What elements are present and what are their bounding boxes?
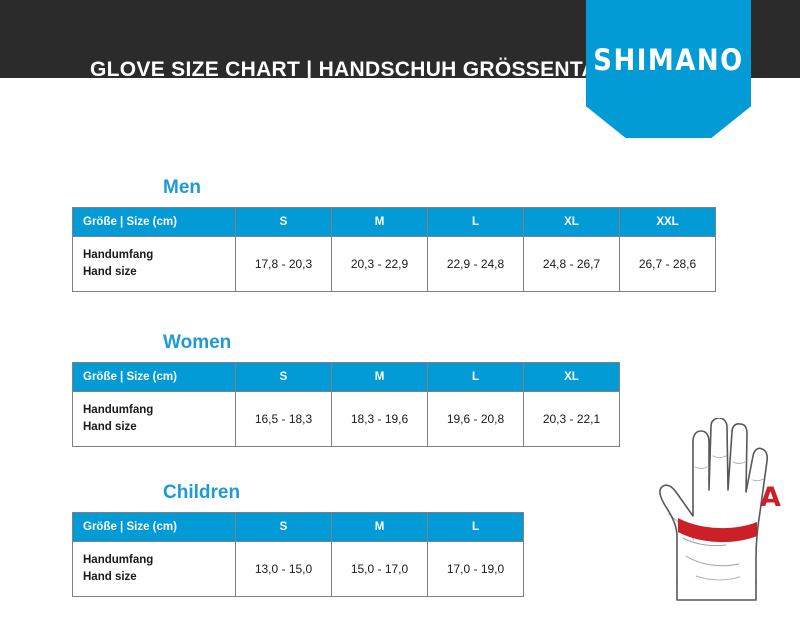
- measurement-letter-label: A: [760, 482, 781, 513]
- column-header-s: S: [236, 512, 332, 541]
- section-title-women: Women: [163, 333, 620, 353]
- cell-value-s: 17,8 - 20,3: [236, 236, 332, 291]
- row-label-hand-size: Handumfang Hand size: [73, 391, 236, 446]
- row-label-en: Hand size: [83, 419, 235, 436]
- column-header-size-label: Größe | Size (cm): [73, 362, 236, 391]
- row-label-de: Handumfang: [83, 402, 235, 419]
- section-title-children: Children: [163, 483, 524, 503]
- size-table-children: Größe | Size (cm) S M L Handumfang Hand …: [72, 512, 524, 597]
- size-section-women: Women Größe | Size (cm) S M L XL Handumf…: [72, 333, 620, 447]
- table-row: Handumfang Hand size 17,8 - 20,3 20,3 - …: [73, 236, 716, 291]
- column-header-xl: XL: [524, 362, 620, 391]
- size-table-men: Größe | Size (cm) S M L XL XXL Handumfan…: [72, 207, 716, 292]
- row-label-en: Hand size: [83, 569, 235, 586]
- table-header-row: Größe | Size (cm) S M L XL: [73, 362, 620, 391]
- column-header-m: M: [332, 512, 428, 541]
- cell-value-s: 16,5 - 18,3: [236, 391, 332, 446]
- row-label-hand-size: Handumfang Hand size: [73, 236, 236, 291]
- size-table-women: Größe | Size (cm) S M L XL Handumfang Ha…: [72, 362, 620, 447]
- page-title: GLOVE SIZE CHART | HANDSCHUH GRÖSSENTABE…: [90, 58, 667, 78]
- cell-value-xl: 20,3 - 22,1: [524, 391, 620, 446]
- cell-value-l: 17,0 - 19,0: [428, 541, 524, 596]
- column-header-s: S: [236, 362, 332, 391]
- column-header-size-label: Größe | Size (cm): [73, 512, 236, 541]
- column-header-m: M: [332, 207, 428, 236]
- column-header-xl: XL: [524, 207, 620, 236]
- cell-value-m: 20,3 - 22,9: [332, 236, 428, 291]
- table-header-row: Größe | Size (cm) S M L: [73, 512, 524, 541]
- shimano-wordmark: SHIMANO: [586, 44, 751, 78]
- cell-value-s: 13,0 - 15,0: [236, 541, 332, 596]
- table-row: Handumfang Hand size 16,5 - 18,3 18,3 - …: [73, 391, 620, 446]
- row-label-de: Handumfang: [83, 552, 235, 569]
- cell-value-m: 15,0 - 17,0: [332, 541, 428, 596]
- measurement-band: [678, 518, 757, 542]
- section-title-men: Men: [163, 178, 716, 198]
- row-label-hand-size: Handumfang Hand size: [73, 541, 236, 596]
- column-header-l: L: [428, 362, 524, 391]
- cell-value-l: 22,9 - 24,8: [428, 236, 524, 291]
- row-label-de: Handumfang: [83, 247, 235, 264]
- shimano-logo-badge: SHIMANO: [586, 0, 751, 138]
- hand-illustration-icon: [636, 418, 796, 618]
- table-row: Handumfang Hand size 13,0 - 15,0 15,0 - …: [73, 541, 524, 596]
- cell-value-m: 18,3 - 19,6: [332, 391, 428, 446]
- size-section-men: Men Größe | Size (cm) S M L XL XXL Handu…: [72, 178, 716, 292]
- cell-value-xxl: 26,7 - 28,6: [620, 236, 716, 291]
- row-label-en: Hand size: [83, 264, 235, 281]
- hand-measurement-diagram: A: [636, 418, 796, 618]
- column-header-xxl: XXL: [620, 207, 716, 236]
- column-header-size-label: Größe | Size (cm): [73, 207, 236, 236]
- column-header-m: M: [332, 362, 428, 391]
- cell-value-xl: 24,8 - 26,7: [524, 236, 620, 291]
- table-header-row: Größe | Size (cm) S M L XL XXL: [73, 207, 716, 236]
- cell-value-l: 19,6 - 20,8: [428, 391, 524, 446]
- column-header-s: S: [236, 207, 332, 236]
- column-header-l: L: [428, 207, 524, 236]
- column-header-l: L: [428, 512, 524, 541]
- size-section-children: Children Größe | Size (cm) S M L Handumf…: [72, 483, 524, 597]
